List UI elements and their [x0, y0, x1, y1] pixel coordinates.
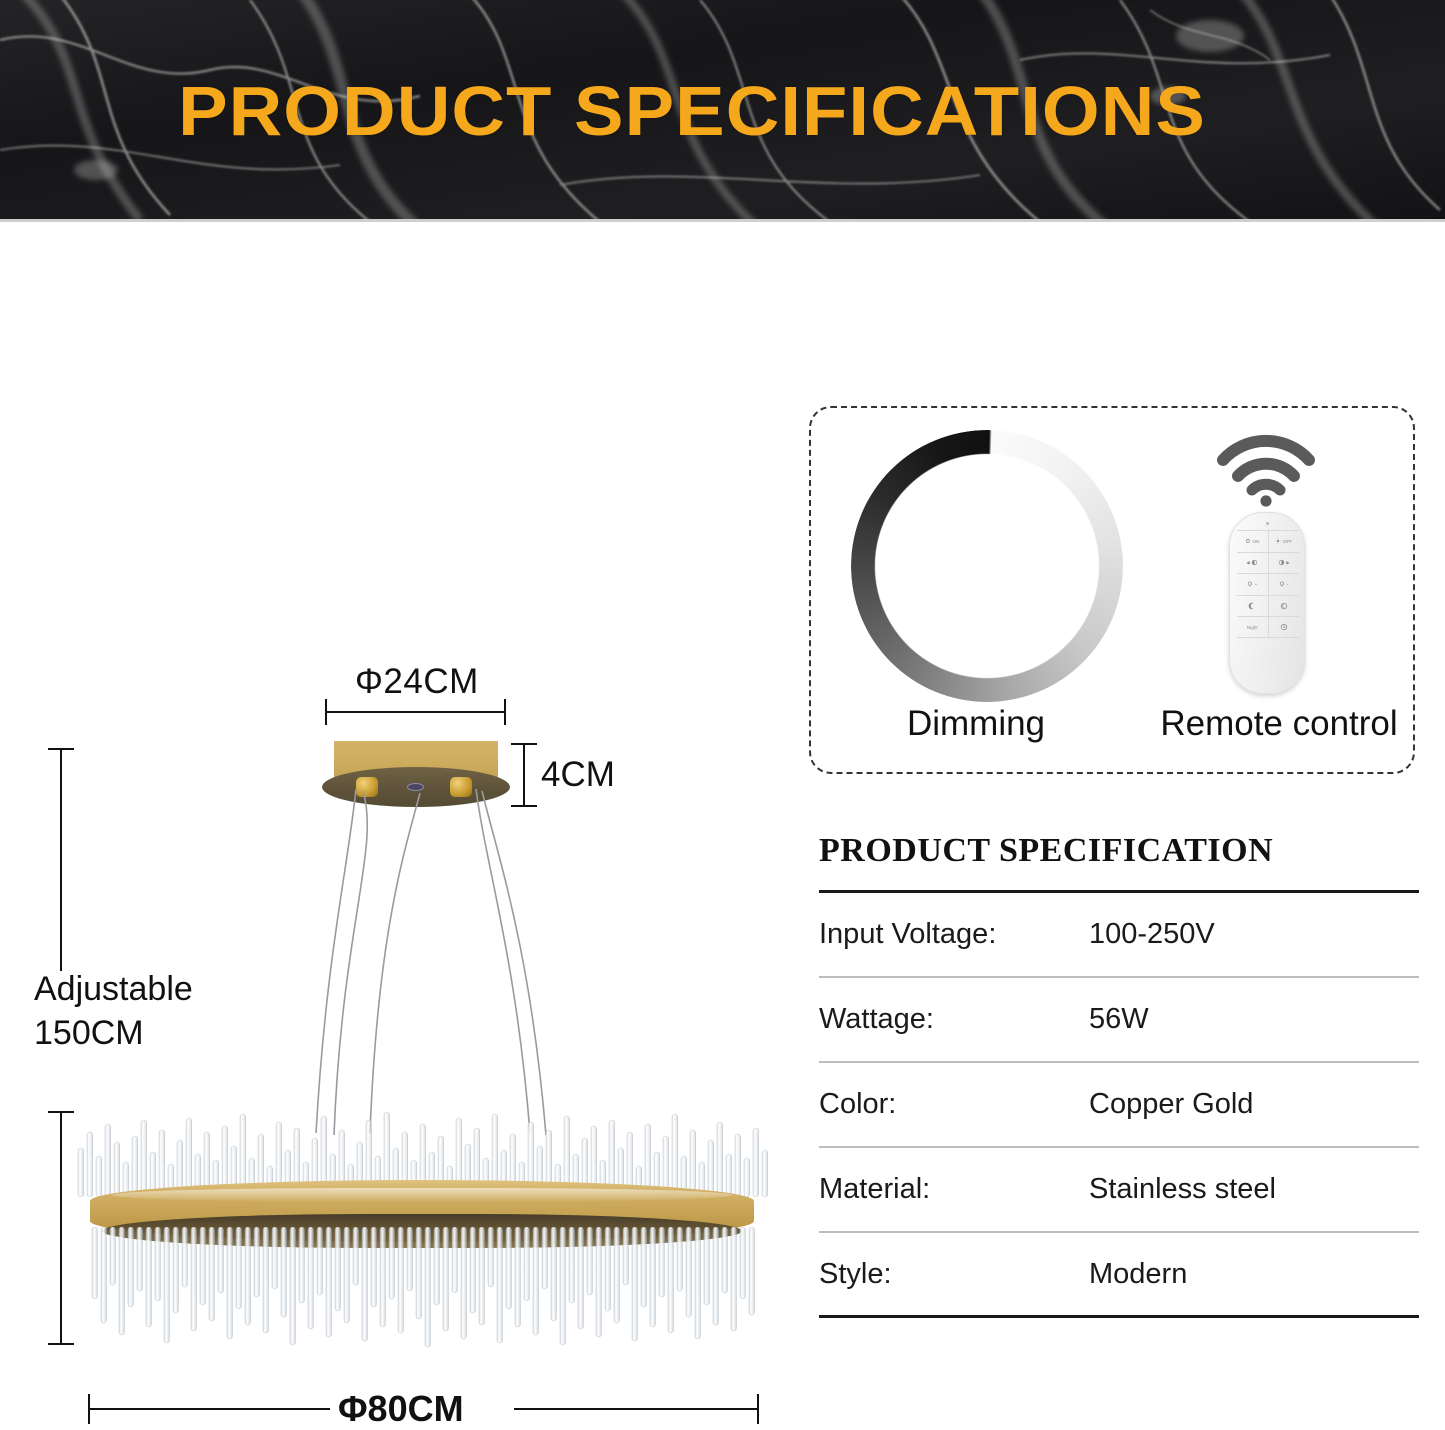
- remote-button-on-label: ON: [1253, 539, 1260, 544]
- remote-button-prev[interactable]: ◀: [1237, 553, 1268, 574]
- remote-button-off[interactable]: OFF: [1268, 531, 1300, 552]
- bulb-icon: [1279, 581, 1285, 588]
- crystal-rods-bottom: [88, 1227, 756, 1352]
- remote-button-brightness-down-label: −: [1286, 582, 1289, 587]
- remote-button-prev-label: ◀: [1246, 560, 1250, 566]
- remote-row: + −: [1237, 573, 1299, 595]
- power-off-icon: [1275, 538, 1281, 544]
- remote-row: Night: [1237, 616, 1299, 638]
- brightness-high-icon: [1278, 559, 1285, 566]
- dimming-gradient-ring-icon: [851, 430, 1123, 702]
- remote-button-next-label: ▶: [1286, 560, 1290, 566]
- dimming-label: Dimming: [811, 704, 1141, 744]
- fixture-width-line-left: [88, 1408, 330, 1410]
- power-on-icon: [1245, 538, 1251, 544]
- crystal-oval-chandelier: [72, 1102, 772, 1352]
- remote-button-off-label: OFF: [1283, 539, 1292, 544]
- feature-box: ON OFF ◀: [809, 406, 1415, 774]
- spec-key: Material:: [819, 1173, 1089, 1206]
- table-row: Wattage: 56W: [819, 978, 1419, 1063]
- gold-band-highlight: [112, 1188, 732, 1202]
- fixture-width-dimension-label: Φ80CM: [338, 1388, 464, 1430]
- remote-control-label: Remote control: [1141, 704, 1417, 744]
- remote-button-brightness-down[interactable]: −: [1268, 574, 1300, 595]
- remote-button-brightness-up-label: +: [1255, 582, 1258, 587]
- remote-button-on[interactable]: ON: [1237, 531, 1268, 552]
- page-title: PRODUCT SPECIFICATIONS: [0, 0, 1445, 222]
- brightness-low-icon: [1251, 559, 1258, 566]
- canopy-width-cap-right: [504, 699, 506, 725]
- spec-key: Style:: [819, 1258, 1089, 1291]
- canopy-height-cap-top: [511, 743, 537, 745]
- fixture-height-cap-top: [48, 1111, 74, 1113]
- remote-button-brightness-up[interactable]: +: [1237, 574, 1268, 595]
- specification-title: PRODUCT SPECIFICATION: [819, 832, 1273, 870]
- remote-button-pad: ON OFF ◀: [1237, 530, 1299, 638]
- fixture-width-line-right: [514, 1408, 759, 1410]
- remote-button-night-light[interactable]: Night: [1237, 617, 1268, 637]
- adjustable-label-line1: Adjustable: [34, 967, 193, 1011]
- table-row: Color: Copper Gold: [819, 1063, 1419, 1148]
- feature-labels: Dimming Remote control: [811, 704, 1417, 744]
- suspension-cables: [230, 777, 610, 1137]
- adjustable-dimension-label: Adjustable 150CM: [34, 967, 193, 1055]
- spec-value: Copper Gold: [1089, 1088, 1419, 1121]
- canopy-width-dimension-line: [325, 711, 506, 713]
- spec-value: Stainless steel: [1089, 1173, 1419, 1206]
- remote-button-night-mode[interactable]: [1237, 596, 1268, 617]
- spec-value: 56W: [1089, 1003, 1419, 1036]
- fixture-height-dimension-line: [60, 1112, 62, 1344]
- header-banner: PRODUCT SPECIFICATIONS: [0, 0, 1445, 222]
- adjustable-dimension-line: [60, 749, 62, 971]
- spec-value: Modern: [1089, 1258, 1419, 1291]
- table-row: Input Voltage: 100-250V: [819, 893, 1419, 978]
- moon-icon: [1248, 602, 1256, 610]
- remote-control-icon: ON OFF ◀: [1229, 512, 1305, 694]
- table-row: Material: Stainless steel: [819, 1148, 1419, 1233]
- remote-button-sleep-mode[interactable]: [1268, 596, 1300, 617]
- bulb-icon: [1247, 581, 1253, 588]
- adjustable-dimension-cap: [48, 748, 74, 750]
- spec-key: Input Voltage:: [819, 918, 1089, 951]
- product-dimension-diagram: Φ24CM 4CM Adjustable 150CM: [0, 222, 795, 1297]
- spec-key: Wattage:: [819, 1003, 1089, 1036]
- remote-row: [1237, 595, 1299, 617]
- spec-value: 100-250V: [1089, 918, 1419, 951]
- canopy-width-dimension-label: Φ24CM: [355, 662, 479, 702]
- fixture-height-cap-bottom: [48, 1343, 74, 1345]
- remote-led: [1266, 522, 1269, 525]
- right-column: ON OFF ◀: [795, 222, 1445, 1297]
- canopy-width-cap-left: [325, 699, 327, 725]
- table-row: Style: Modern: [819, 1233, 1419, 1318]
- remote-button-night-light-label: Night: [1247, 625, 1258, 630]
- adjustable-label-line2: 150CM: [34, 1011, 193, 1055]
- remote-row: ◀ ▶: [1237, 552, 1299, 574]
- remote-button-timer[interactable]: [1268, 617, 1300, 637]
- remote-row: ON OFF: [1237, 530, 1299, 552]
- spec-key: Color:: [819, 1088, 1089, 1121]
- timer-icon: [1280, 623, 1288, 631]
- remote-button-next[interactable]: ▶: [1268, 553, 1300, 574]
- moon-circle-icon: [1280, 602, 1288, 610]
- specification-table: Input Voltage: 100-250V Wattage: 56W Col…: [819, 890, 1419, 1318]
- wifi-signal-icon: [1211, 430, 1321, 508]
